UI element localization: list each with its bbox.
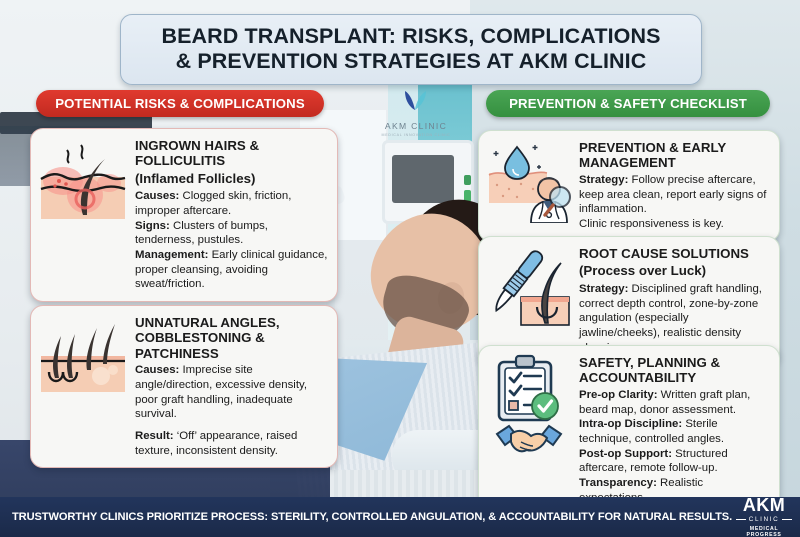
akm-leaf-logo-icon xyxy=(401,88,431,114)
footer-bar: TRUSTWORTHY CLINICS PRIORITIZE PROCESS: … xyxy=(0,497,800,537)
footer-tagline: TRUSTWORTHY CLINICS PRIORITIZE PROCESS: … xyxy=(0,511,732,523)
bg-indicator-light-2 xyxy=(464,175,471,185)
card-title: PREVENTION & EARLY MANAGEMENT xyxy=(579,140,770,171)
title-line-2: & PREVENTION STRATEGIES AT AKM CLINIC xyxy=(176,49,647,73)
risks-column-header: POTENTIAL RISKS & COMPLICATIONS xyxy=(36,90,324,117)
card-title: ROOT CAUSE SOLUTIONS xyxy=(579,246,770,261)
footer-akm-logo: AKM CLINIC MEDICAL PROGRESS xyxy=(732,496,800,537)
card-text: Causes: Clogged skin, friction, improper… xyxy=(135,189,328,292)
title-line-1: BEARD TRANSPLANT: RISKS, COMPLICATIONS xyxy=(161,24,660,48)
card-text: Strategy: Follow precise aftercare, keep… xyxy=(579,173,770,232)
card-subtitle: (Process over Luck) xyxy=(579,263,770,278)
risk-card-unnatural-angles[interactable]: UNNATURAL ANGLES, COBBLESTONING & PATCHI… xyxy=(30,305,338,468)
card-line-label: Strategy: xyxy=(579,174,628,186)
card-line-label: Signs: xyxy=(135,220,170,232)
card-line-label: Causes: xyxy=(135,364,179,376)
clinic-watermark: AKM CLINIC MEDICAL INNOVATION CLINIC xyxy=(360,88,472,137)
risk-card-folliculitis-body: INGROWN HAIRS & FOLLICULITIS (Inflamed F… xyxy=(135,129,337,301)
doctor-magnifier-icon xyxy=(479,131,571,241)
bg-monitor-screen xyxy=(392,155,454,203)
prevention-card-early-management[interactable]: PREVENTION & EARLY MANAGEMENT Strategy: … xyxy=(478,130,780,242)
card-title: SAFETY, PLANNING & ACCOUNTABILITY xyxy=(579,355,770,386)
card-title: UNNATURAL ANGLES, COBBLESTONING & PATCHI… xyxy=(135,315,328,361)
risk-card-folliculitis[interactable]: INGROWN HAIRS & FOLLICULITIS (Inflamed F… xyxy=(30,128,338,302)
card-line-gap xyxy=(135,422,328,429)
risk-card-unnatural-angles-body: UNNATURAL ANGLES, COBBLESTONING & PATCHI… xyxy=(135,306,337,467)
prevention-card-safety-planning-body: SAFETY, PLANNING & ACCOUNTABILITY Pre-op… xyxy=(579,346,779,514)
card-text: Causes: Imprecise site angle/direction, … xyxy=(135,363,328,458)
prevention-card-early-management-body: PREVENTION & EARLY MANAGEMENT Strategy: … xyxy=(579,131,779,241)
card-title: INGROWN HAIRS & FOLLICULITIS xyxy=(135,138,328,169)
infographic-canvas: AKM CLINIC MEDICAL INNOVATION CLINIC BEA… xyxy=(0,0,800,537)
footer-logo-subtitle: MEDICAL PROGRESS xyxy=(732,526,796,537)
card-line-label: Pre-op Clarity: xyxy=(579,389,657,401)
card-line-label: Strategy: xyxy=(579,283,628,295)
card-line-text: Clinic responsiveness is key. xyxy=(579,218,724,230)
card-line-label: Result: xyxy=(135,430,174,442)
prevention-column-header: PREVENTION & SAFETY CHECKLIST xyxy=(486,90,770,117)
footer-logo-main: AKM xyxy=(732,496,796,514)
watermark-subtitle: MEDICAL INNOVATION CLINIC xyxy=(360,133,472,137)
page-title: BEARD TRANSPLANT: RISKS, COMPLICATIONS &… xyxy=(120,14,702,85)
card-line-label: Intra-op Discipline: xyxy=(579,418,682,430)
footer-logo-clinic: CLINIC xyxy=(749,514,780,526)
card-line-label: Causes: xyxy=(135,190,179,202)
prevention-card-safety-planning[interactable]: SAFETY, PLANNING & ACCOUNTABILITY Pre-op… xyxy=(478,345,780,515)
card-line-label: Management: xyxy=(135,249,208,261)
card-line-label: Post-op Support: xyxy=(579,448,672,460)
card-line-label: Transparency: xyxy=(579,477,657,489)
watermark-name: AKM CLINIC xyxy=(360,121,472,131)
card-text: Pre-op Clarity: Written graft plan, bear… xyxy=(579,388,770,506)
clipboard-handshake-icon xyxy=(479,346,571,514)
inflamed-follicle-icon xyxy=(31,129,127,301)
angled-follicles-icon xyxy=(31,306,127,467)
card-subtitle: (Inflamed Follicles) xyxy=(135,171,328,186)
